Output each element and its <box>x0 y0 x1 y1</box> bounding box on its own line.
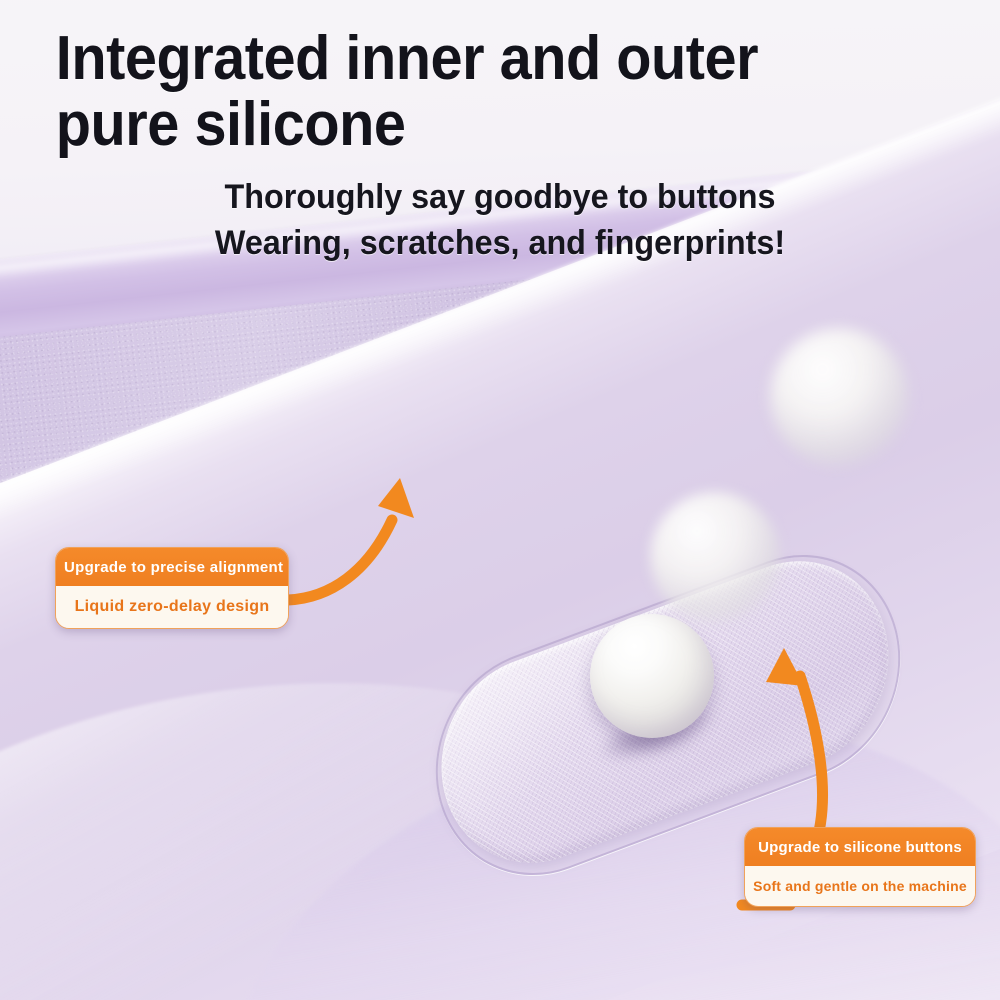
blurred-sphere <box>650 492 780 622</box>
callout-silicone-buttons: Upgrade to silicone buttons Soft and gen… <box>744 827 976 907</box>
callout-title: Upgrade to silicone buttons <box>745 828 975 866</box>
headline-line-2: pure silicone <box>56 90 406 159</box>
marketing-copy: Integrated inner and outer pure silicone… <box>0 0 1000 267</box>
headline-line-1: Integrated inner and outer <box>56 24 758 93</box>
blurred-sphere <box>770 328 908 466</box>
white-sphere-prop <box>590 614 714 738</box>
product-marketing-image: Integrated inner and outer pure silicone… <box>0 0 1000 1000</box>
subheadline-line-2: Wearing, scratches, and fingerprints! <box>25 221 975 267</box>
callout-precise-alignment: Upgrade to precise alignment Liquid zero… <box>55 547 289 629</box>
page-title: Integrated inner and outer pure silicone <box>0 0 930 157</box>
page-subtitle: Thoroughly say goodbye to buttons Wearin… <box>0 157 1000 266</box>
subheadline-line-1: Thoroughly say goodbye to buttons <box>25 175 975 221</box>
callout-subtitle: Soft and gentle on the machine <box>745 866 975 906</box>
callout-title: Upgrade to precise alignment <box>56 548 288 586</box>
callout-subtitle: Liquid zero-delay design <box>56 586 288 628</box>
